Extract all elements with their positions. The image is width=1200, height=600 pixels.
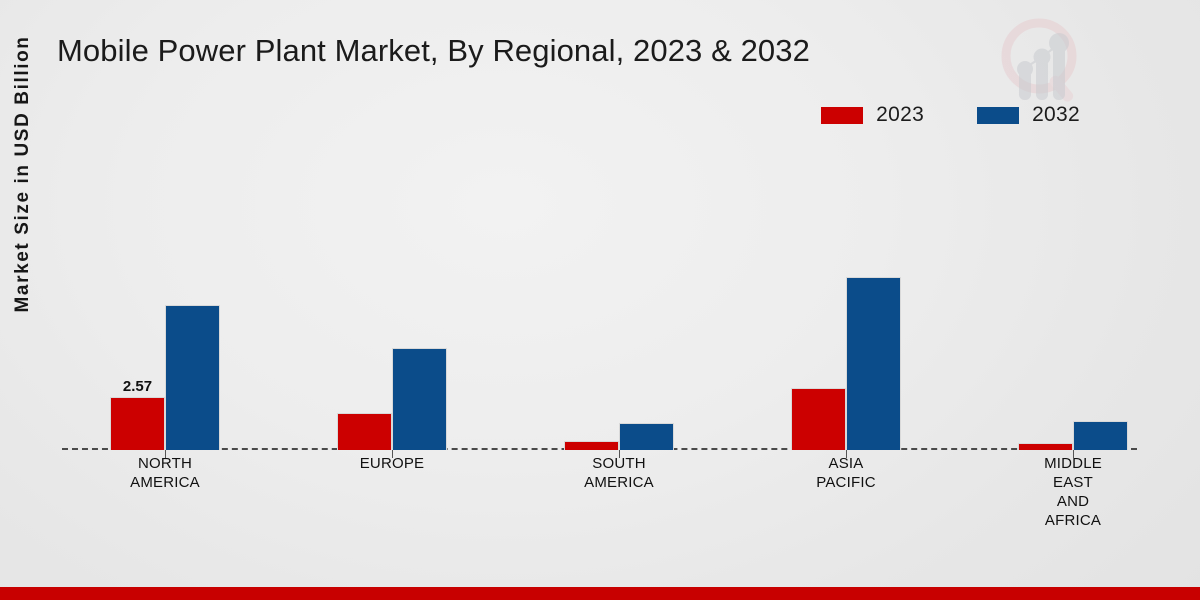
category-label-line: MIDDLE xyxy=(988,454,1158,473)
plot-area: 2.57 NORTH AMERICA EUROPE xyxy=(62,150,1137,450)
bar-2032-south-america[interactable] xyxy=(619,423,674,450)
bar-2023-asia-pacific[interactable] xyxy=(791,388,846,450)
legend-item-2032[interactable]: 2032 xyxy=(977,103,1080,127)
chart-canvas: Mobile Power Plant Market, By Regional, … xyxy=(0,0,1200,600)
category-label-line: AND xyxy=(988,492,1158,511)
bar-group-north-america: 2.57 NORTH AMERICA xyxy=(62,150,232,450)
company-watermark-logo xyxy=(990,12,1095,104)
footer-accent-band xyxy=(0,587,1200,600)
category-label-line: PACIFIC xyxy=(761,473,931,492)
legend-item-2023[interactable]: 2023 xyxy=(821,103,924,127)
bar-group-middle-east-and-africa: MIDDLE EAST AND AFRICA xyxy=(970,150,1140,450)
chart-legend: 2023 2032 xyxy=(821,103,1080,127)
category-label-asia-pacific: ASIA PACIFIC xyxy=(761,454,931,492)
category-label-south-america: SOUTH AMERICA xyxy=(534,454,704,492)
legend-swatch-2032 xyxy=(977,107,1019,124)
bar-2023-middle-east-and-africa[interactable] xyxy=(1018,443,1073,450)
bar-2032-europe[interactable] xyxy=(392,348,447,450)
bar-2032-north-america[interactable] xyxy=(165,305,220,450)
bar-2032-asia-pacific[interactable] xyxy=(846,277,901,450)
category-label-line: EAST xyxy=(988,473,1158,492)
legend-label-2023: 2023 xyxy=(876,103,924,127)
bar-2023-north-america[interactable]: 2.57 xyxy=(110,397,165,450)
category-label-north-america: NORTH AMERICA xyxy=(80,454,250,492)
bar-2032-middle-east-and-africa[interactable] xyxy=(1073,421,1128,450)
bar-group-europe: EUROPE xyxy=(289,150,459,450)
bar-2023-europe[interactable] xyxy=(337,413,392,450)
category-label-line: AFRICA xyxy=(988,511,1158,530)
category-label-line: EUROPE xyxy=(307,454,477,473)
category-label-europe: EUROPE xyxy=(307,454,477,473)
category-label-line: ASIA xyxy=(761,454,931,473)
category-label-line: NORTH xyxy=(80,454,250,473)
y-axis-title: Market Size in USD Billion xyxy=(12,9,34,339)
legend-swatch-2023 xyxy=(821,107,863,124)
bar-value-label-north-america-2023: 2.57 xyxy=(123,378,152,395)
category-label-line: AMERICA xyxy=(80,473,250,492)
category-label-middle-east-and-africa: MIDDLE EAST AND AFRICA xyxy=(988,454,1158,530)
category-label-line: SOUTH xyxy=(534,454,704,473)
legend-label-2032: 2032 xyxy=(1032,103,1080,127)
bar-group-asia-pacific: ASIA PACIFIC xyxy=(743,150,913,450)
bar-group-south-america: SOUTH AMERICA xyxy=(516,150,686,450)
chart-title: Mobile Power Plant Market, By Regional, … xyxy=(57,33,810,69)
category-label-line: AMERICA xyxy=(534,473,704,492)
bar-2023-south-america[interactable] xyxy=(564,441,619,450)
